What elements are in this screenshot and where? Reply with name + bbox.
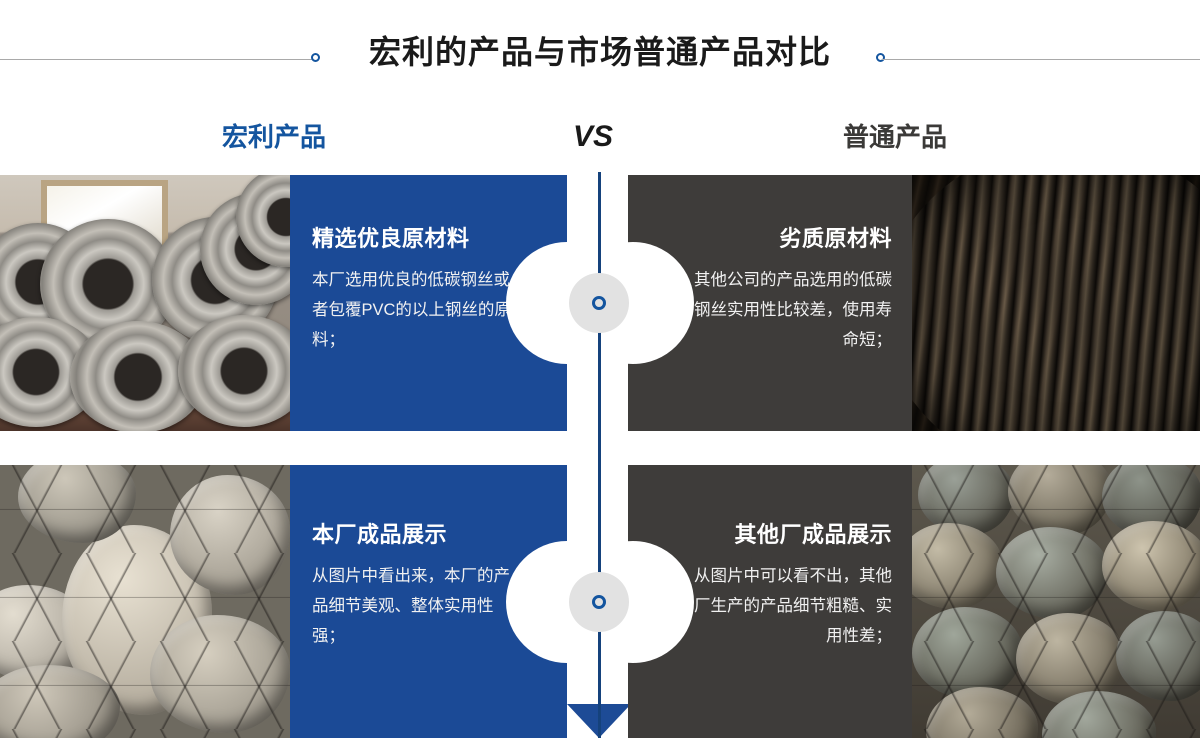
title-band: 宏利的产品与市场普通产品对比 bbox=[0, 0, 1200, 100]
node-ring-icon bbox=[592, 296, 606, 310]
card-title: 精选优良原材料 bbox=[312, 225, 519, 253]
timeline-node-1 bbox=[569, 273, 629, 333]
title-ring-right-icon bbox=[876, 53, 885, 62]
title-rule-right bbox=[882, 59, 1200, 60]
page-title: 宏利的产品与市场普通产品对比 bbox=[0, 32, 1200, 72]
card-title: 本厂成品展示 bbox=[312, 521, 519, 549]
gabion-mesh-stones-photo bbox=[0, 465, 290, 738]
column-header-ordinary: 普通产品 bbox=[843, 120, 947, 154]
galvanized-wire-coils-photo bbox=[0, 175, 290, 431]
timeline-node-2 bbox=[569, 572, 629, 632]
card-body: 其他公司的产品选用的低碳钢丝实用性比较差，使用寿命短； bbox=[688, 265, 892, 355]
card-body: 从图片中可以看不出，其他厂生产的产品细节粗糙、实用性差； bbox=[688, 561, 892, 651]
node-ring-icon bbox=[592, 595, 606, 609]
comparison-row-2: 本厂成品展示 从图片中看出来，本厂的产品细节美观、整体实用性强； 其他厂成品展示… bbox=[0, 465, 1200, 738]
column-header-vs: VS bbox=[573, 120, 613, 154]
card-body: 本厂选用优良的低碳钢丝或者包覆PVC的以上钢丝的原料； bbox=[312, 265, 519, 355]
comparison-row-1: 精选优良原材料 本厂选用优良的低碳钢丝或者包覆PVC的以上钢丝的原料； 劣质原材… bbox=[0, 175, 1200, 431]
rough-gabion-stones-photo bbox=[912, 465, 1200, 738]
card-title: 其他厂成品展示 bbox=[688, 521, 892, 549]
card-body: 从图片中看出来，本厂的产品细节美观、整体实用性强； bbox=[312, 561, 519, 651]
card-title: 劣质原材料 bbox=[688, 225, 892, 253]
rusty-wire-coil-photo bbox=[912, 175, 1200, 431]
column-header-hongli: 宏利产品 bbox=[222, 120, 326, 154]
